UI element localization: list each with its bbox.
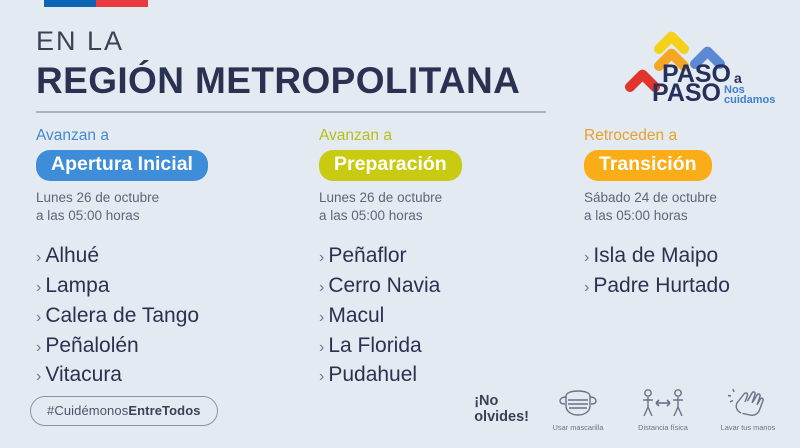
reminder-distance: Distancia física bbox=[627, 385, 699, 432]
comuna-name: Peñaflor bbox=[328, 244, 406, 267]
comuna-name: Pudahuel bbox=[328, 363, 417, 386]
column-date: Lunes 26 de octubre a las 05:00 horas bbox=[36, 189, 319, 225]
list-item: ›Peñalolén bbox=[36, 331, 319, 361]
comuna-name: Cerro Navia bbox=[328, 274, 440, 297]
status-badge-apertura-inicial: Apertura Inicial bbox=[36, 150, 208, 181]
chilean-flag-bar bbox=[44, 0, 148, 7]
comuna-list: ›Isla de Maipo ›Padre Hurtado bbox=[584, 241, 786, 301]
comuna-list: ›Alhué ›Lampa ›Calera de Tango ›Peñalolé… bbox=[36, 241, 319, 390]
list-item: ›Padre Hurtado bbox=[584, 271, 786, 301]
reminders-title: ¡No olvides! bbox=[474, 393, 529, 425]
reminder-caption: Usar mascarilla bbox=[553, 424, 604, 432]
physical-distance-icon bbox=[640, 385, 686, 421]
chevron-right-icon: › bbox=[36, 368, 41, 385]
reminder-caption: Lavar tus manos bbox=[721, 424, 776, 432]
comuna-name: Alhué bbox=[45, 244, 99, 267]
chevron-right-icon: › bbox=[584, 249, 589, 266]
date-line-1: Lunes 26 de octubre bbox=[319, 189, 584, 207]
reminder-caption: Distancia física bbox=[638, 424, 688, 432]
date-line-1: Lunes 26 de octubre bbox=[36, 189, 319, 207]
paso-a-paso-logo: PASO a PASO Nos cuidamos bbox=[622, 8, 778, 104]
chevron-right-icon: › bbox=[36, 339, 41, 356]
flag-red-segment bbox=[96, 0, 148, 7]
comuna-name: La Florida bbox=[328, 334, 421, 357]
reminders-title-line-2: olvides! bbox=[474, 409, 529, 425]
header-divider bbox=[36, 111, 546, 113]
list-item: ›Cerro Navia bbox=[319, 271, 584, 301]
chevron-right-icon: › bbox=[36, 249, 41, 266]
column-kicker: Retroceden a bbox=[584, 127, 786, 145]
wash-hands-icon bbox=[727, 385, 769, 421]
list-item: ›Isla de Maipo bbox=[584, 241, 786, 271]
chevron-right-icon: › bbox=[36, 309, 41, 326]
column-date: Lunes 26 de octubre a las 05:00 horas bbox=[319, 189, 584, 225]
column-date: Sábado 24 de octubre a las 05:00 horas bbox=[584, 189, 786, 225]
reminder-wash-hands: Lavar tus manos bbox=[712, 385, 784, 432]
status-columns: Avanzan a Apertura Inicial Lunes 26 de o… bbox=[36, 127, 786, 390]
status-badge-transicion: Transición bbox=[584, 150, 712, 181]
column-transicion: Retroceden a Transición Sábado 24 de oct… bbox=[584, 127, 786, 390]
page-header: EN LA REGIÓN METROPOLITANA bbox=[36, 28, 520, 101]
comuna-name: Macul bbox=[328, 304, 384, 327]
status-badge-preparacion: Preparación bbox=[319, 150, 462, 181]
chevron-right-icon: › bbox=[319, 279, 324, 296]
chevron-right-icon: › bbox=[319, 309, 324, 326]
list-item: ›Peñaflor bbox=[319, 241, 584, 271]
comuna-name: Peñalolén bbox=[45, 334, 138, 357]
reminders-title-line-1: ¡No bbox=[474, 393, 529, 409]
header-eyebrow: EN LA bbox=[36, 28, 520, 55]
comuna-name: Vitacura bbox=[45, 363, 122, 386]
list-item: ›Alhué bbox=[36, 241, 319, 271]
column-kicker: Avanzan a bbox=[319, 127, 584, 145]
hashtag-bold-part: EntreTodos bbox=[128, 403, 200, 418]
comuna-name: Lampa bbox=[45, 274, 109, 297]
hashtag-badge: #CuidémonosEntreTodos bbox=[30, 396, 218, 426]
chevron-right-icon: › bbox=[319, 339, 324, 356]
comuna-name: Isla de Maipo bbox=[593, 244, 718, 267]
date-line-1: Sábado 24 de octubre bbox=[584, 189, 786, 207]
comuna-list: ›Peñaflor ›Cerro Navia ›Macul ›La Florid… bbox=[319, 241, 584, 390]
list-item: ›Vitacura bbox=[36, 360, 319, 390]
column-kicker: Avanzan a bbox=[36, 127, 319, 145]
comuna-name: Calera de Tango bbox=[45, 304, 199, 327]
infographic-root: EN LA REGIÓN METROPOLITANA PASO a PASO N… bbox=[0, 0, 800, 448]
list-item: ›Macul bbox=[319, 301, 584, 331]
column-preparacion: Avanzan a Preparación Lunes 26 de octubr… bbox=[319, 127, 584, 390]
logo-tagline-cuidamos: cuidamos bbox=[724, 94, 775, 104]
page-title: REGIÓN METROPOLITANA bbox=[36, 62, 520, 101]
comuna-name: Padre Hurtado bbox=[593, 274, 730, 297]
date-line-2: a las 05:00 horas bbox=[36, 207, 319, 225]
list-item: ›La Florida bbox=[319, 331, 584, 361]
date-line-2: a las 05:00 horas bbox=[584, 207, 786, 225]
face-mask-icon bbox=[557, 385, 599, 421]
chevron-right-icon: › bbox=[584, 279, 589, 296]
chevron-right-icon: › bbox=[319, 368, 324, 385]
chevron-right-icon: › bbox=[36, 279, 41, 296]
date-line-2: a las 05:00 horas bbox=[319, 207, 584, 225]
column-apertura-inicial: Avanzan a Apertura Inicial Lunes 26 de o… bbox=[36, 127, 319, 390]
reminders-group: ¡No olvides! Usar mascarilla bbox=[474, 385, 784, 432]
chevron-right-icon: › bbox=[319, 249, 324, 266]
list-item: ›Calera de Tango bbox=[36, 301, 319, 331]
hashtag-normal-part: #Cuidémonos bbox=[47, 403, 128, 418]
flag-blue-segment bbox=[44, 0, 96, 7]
logo-paso-line2: PASO bbox=[652, 79, 721, 104]
list-item: ›Lampa bbox=[36, 271, 319, 301]
reminder-mask: Usar mascarilla bbox=[542, 385, 614, 432]
